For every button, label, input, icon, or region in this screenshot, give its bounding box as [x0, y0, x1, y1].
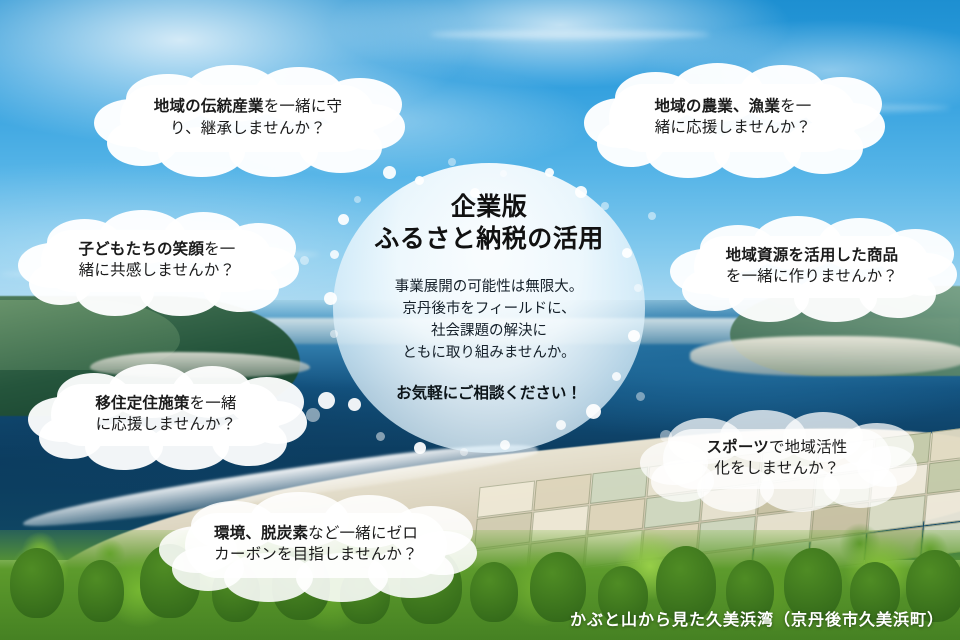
bubble-line-1: 移住定住施策を一緒 [95, 393, 236, 414]
bubble-line-2: り、継承しませんか？ [170, 118, 326, 139]
bubble-emphasis: 地域の伝統産業 [154, 97, 264, 115]
bubble-text-children-smiles: 子どもたちの笑顔を一緒に共感しませんか？ [12, 206, 302, 314]
bubble-text-agriculture-fishery: 地域の農業、漁業を一緒に応援しませんか？ [578, 58, 888, 176]
cloud-streak-icon [430, 30, 710, 39]
center-body-line1: 事業展開の可能性は無限大。 [395, 276, 584, 298]
bubble-emphasis: スポーツ [706, 438, 769, 456]
decorative-dot [660, 430, 672, 442]
bubble-text-zero-carbon: 環境、脱炭素など一緒にゼロカーボンを目指しませんか？ [152, 488, 480, 600]
center-title-line2: ふるさと納税の活用 [374, 223, 604, 255]
photo-caption: かぶと山から見た久美浜湾（京丹後市久美浜町） [570, 606, 944, 630]
bubble-line-1-rest: を一 [204, 240, 235, 258]
center-body-line4: ともに取り組みませんか。 [395, 342, 584, 364]
bubble-line-1-rest: など一緒にゼロ [308, 524, 418, 542]
bubble-text-local-resources-products: 地域資源を活用した商品を一緒に作りませんか？ [664, 212, 960, 320]
center-body-line2: 京丹後市をフィールドに、 [395, 298, 584, 320]
bubble-line-1: 環境、脱炭素など一緒にゼロ [214, 523, 418, 544]
bubble-line-2: に応援しませんか？ [96, 414, 237, 435]
decorative-dot [648, 212, 656, 220]
tree [78, 560, 124, 622]
tree [10, 548, 64, 618]
speech-bubble-local-resources-products: 地域資源を活用した商品を一緒に作りませんか？ [664, 212, 960, 320]
bubble-line-2: 緒に応援しませんか？ [655, 117, 812, 138]
bubble-emphasis: 子どもたちの笑顔 [78, 240, 204, 258]
paddy-plot [924, 488, 960, 525]
bubble-emphasis: 移住定住施策 [95, 394, 189, 412]
bubble-emphasis: 地域資源を活用した商品 [726, 246, 899, 264]
bubble-line-1: 地域の伝統産業を一緒に守 [154, 96, 342, 117]
bubble-line-2: カーボンを目指しませんか？ [214, 544, 418, 565]
speech-bubble-zero-carbon: 環境、脱炭素など一緒にゼロカーボンを目指しませんか？ [152, 488, 480, 600]
paddy-plot [927, 456, 960, 493]
speech-bubble-children-smiles: 子どもたちの笑顔を一緒に共感しませんか？ [12, 206, 302, 314]
bubble-line-1-rest: を一緒 [190, 394, 237, 412]
center-cta: お気軽にご相談ください！ [396, 381, 582, 403]
poster-canvas: 地域の伝統産業を一緒に守り、継承しませんか？地域の農業、漁業を一緒に応援しません… [0, 0, 960, 640]
bubble-line-1: スポーツで地域活性 [706, 437, 847, 458]
paddy-plot [929, 425, 960, 462]
bubble-emphasis: 環境、脱炭素 [214, 524, 308, 542]
bubble-text-migration-settlement: 移住定住施策を一緒に応援しませんか？ [22, 360, 310, 468]
bubble-line-2: 化をしませんか？ [714, 458, 839, 479]
speech-bubble-traditional-industry: 地域の伝統産業を一緒に守り、継承しませんか？ [88, 60, 408, 175]
center-title: 企業版 ふるさと納税の活用 [374, 191, 604, 254]
bubble-line-1-rest: を一 [780, 97, 811, 115]
bubble-text-sports-revitalization: スポーツで地域活性化をしませんか？ [634, 406, 920, 510]
center-body: 事業展開の可能性は無限大。 京丹後市をフィールドに、 社会課題の解決に ともに取… [395, 276, 584, 364]
bubble-line-1: 地域の農業、漁業を一 [654, 96, 811, 117]
right-town [690, 336, 960, 376]
bubble-line-1-rest: を一緒に守 [264, 97, 343, 115]
bubble-line-2: を一緒に作りませんか？ [726, 266, 898, 287]
center-title-line1: 企業版 [374, 191, 604, 223]
center-body-line3: 社会課題の解決に [395, 320, 584, 342]
speech-bubble-sports-revitalization: スポーツで地域活性化をしませんか？ [634, 406, 920, 510]
center-message: 企業版 ふるさと納税の活用 事業展開の可能性は無限大。 京丹後市をフィールドに、… [333, 163, 645, 453]
bubble-emphasis: 地域の農業、漁業 [654, 97, 780, 115]
speech-bubble-migration-settlement: 移住定住施策を一緒に応援しませんか？ [22, 360, 310, 468]
bubble-line-1-rest: で地域活性 [769, 438, 848, 456]
bubble-line-1: 子どもたちの笑顔を一 [78, 239, 235, 260]
bubble-line-2: 緒に共感しませんか？ [79, 260, 236, 281]
bubble-text-traditional-industry: 地域の伝統産業を一緒に守り、継承しませんか？ [88, 60, 408, 175]
bubble-line-1: 地域資源を活用した商品 [726, 245, 899, 266]
speech-bubble-agriculture-fishery: 地域の農業、漁業を一緒に応援しませんか？ [578, 58, 888, 176]
